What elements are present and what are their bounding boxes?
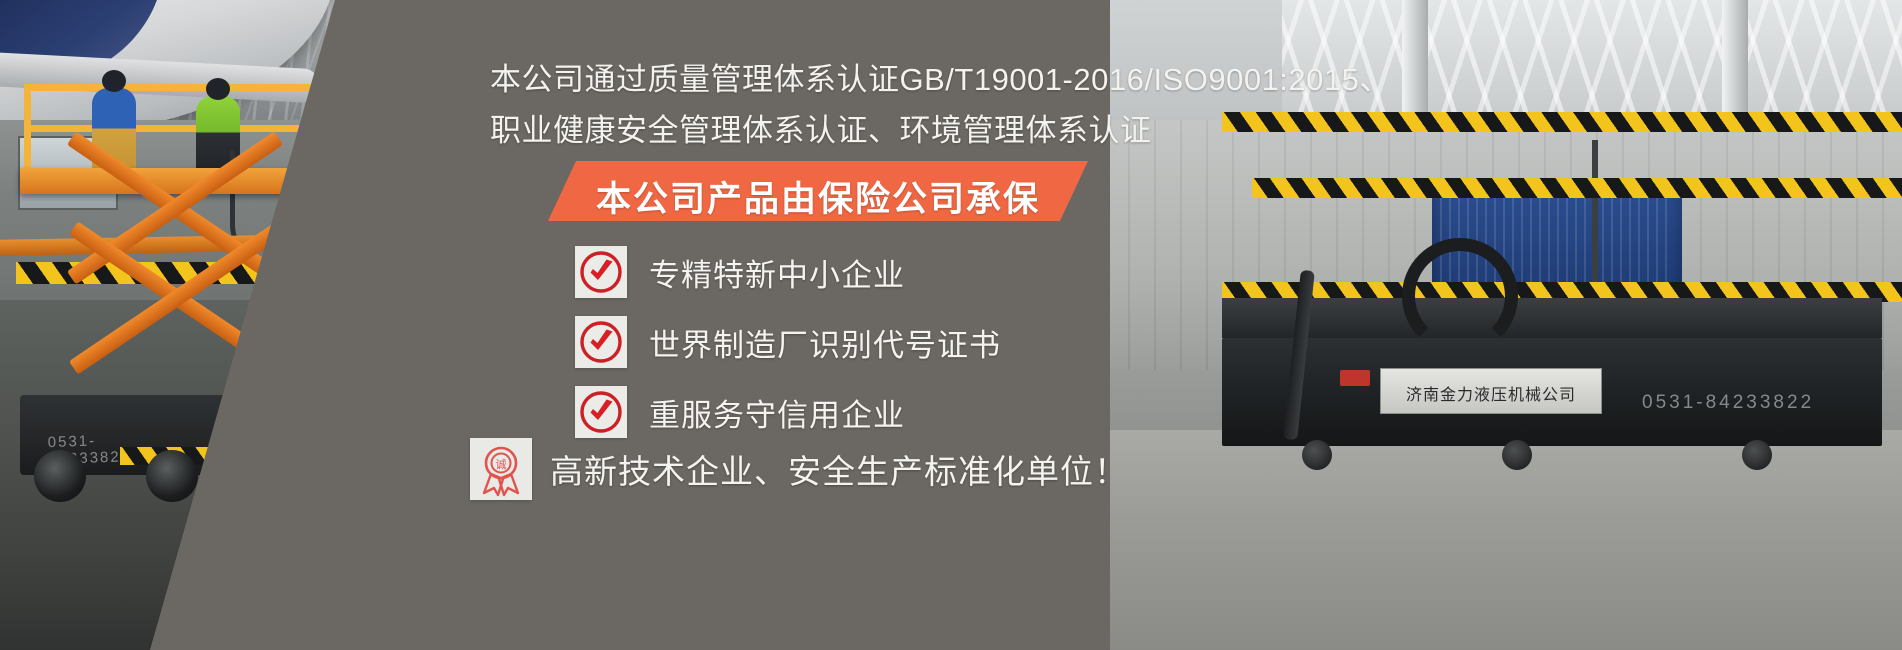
medal-glyph: 诚 [496, 458, 507, 471]
feature-item-label: 重服务守信用企业 [649, 390, 905, 435]
feature-item: 世界制造厂识别代号证书 [575, 308, 1195, 376]
headline-line-1: 本公司通过质量管理体系认证GB/T19001-2016/ISO9001:2015… [490, 54, 1391, 99]
certification-feature-list: 专精特新中小企业 世界制造厂识别代号证书 重 [575, 238, 1195, 448]
feature-item-label: 专精特新中小企业 [649, 250, 905, 295]
promo-banner: 0531-84233822 济南金力液压机械公司 0531-84233822 [0, 0, 1902, 650]
footer-highlight-line: 诚 高新技术企业、安全生产标准化单位！ [470, 438, 1128, 500]
check-circle-icon [575, 386, 627, 438]
check-circle-icon [575, 246, 627, 298]
highlight-banner-label: 本公司产品由保险公司承保 [548, 171, 1088, 222]
headline-line-2: 职业健康安全管理体系认证、环境管理体系认证 [490, 105, 1152, 150]
medal-ribbon-icon: 诚 [470, 438, 532, 500]
feature-item: 重服务守信用企业 [575, 378, 1195, 446]
check-circle-icon [575, 316, 627, 368]
feature-item-label: 世界制造厂识别代号证书 [649, 320, 1001, 365]
feature-item: 专精特新中小企业 [575, 238, 1195, 306]
highlight-banner: 本公司产品由保险公司承保 [548, 161, 1088, 221]
footer-highlight-label: 高新技术企业、安全生产标准化单位！ [550, 445, 1128, 493]
banner-content: 本公司通过质量管理体系认证GB/T19001-2016/ISO9001:2015… [0, 0, 1902, 650]
